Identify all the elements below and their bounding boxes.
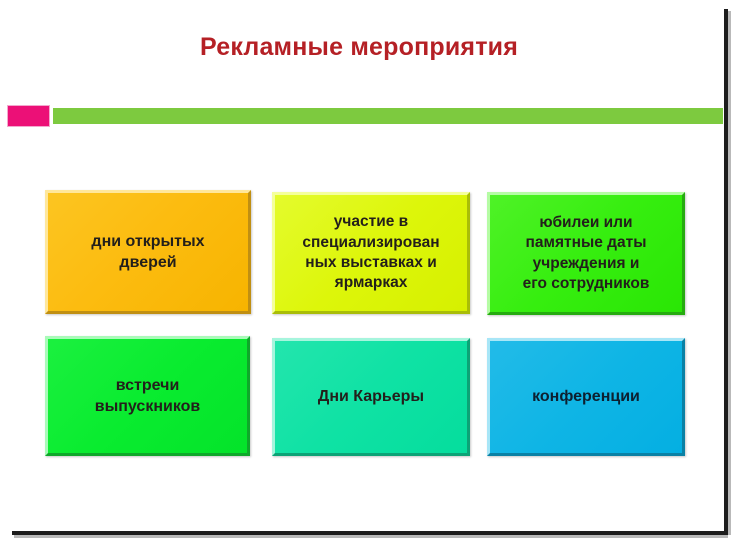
slide-frame-bottom-rule — [12, 531, 726, 535]
concept-box-label: Дни Карьеры — [318, 386, 424, 407]
concept-box-label: дни открытых дверей — [91, 231, 204, 273]
concept-box-label: юбилеи или памятные даты учреждения и ег… — [523, 213, 650, 295]
page-title: Рекламные мероприятия — [0, 33, 718, 62]
accent-bar-pink-block — [8, 106, 49, 126]
concept-box-anniversaries[interactable]: юбилеи или памятные даты учреждения и ег… — [487, 192, 685, 315]
concept-box-label: участие в специализирован ных выставках … — [302, 212, 439, 294]
slide-frame-right-rule — [724, 9, 728, 535]
concept-box-career-days[interactable]: Дни Карьеры — [272, 338, 470, 456]
concept-box-open-days[interactable]: дни открытых дверей — [45, 190, 251, 314]
concept-box-label: конференции — [532, 386, 640, 407]
concept-box-alumni-meetings[interactable]: встречи выпускников — [45, 336, 250, 456]
concept-box-label: встречи выпускников — [95, 375, 200, 417]
concept-box-conferences[interactable]: конференции — [487, 338, 685, 456]
concept-box-specialized-exhibitions[interactable]: участие в специализирован ных выставках … — [272, 192, 470, 314]
slide-canvas: Рекламные мероприятия дни открытых двере… — [0, 0, 735, 550]
slide-frame-bottom-shadow — [14, 535, 728, 538]
slide-frame-right-shadow — [728, 11, 731, 535]
accent-bar-green-rule — [53, 108, 723, 124]
